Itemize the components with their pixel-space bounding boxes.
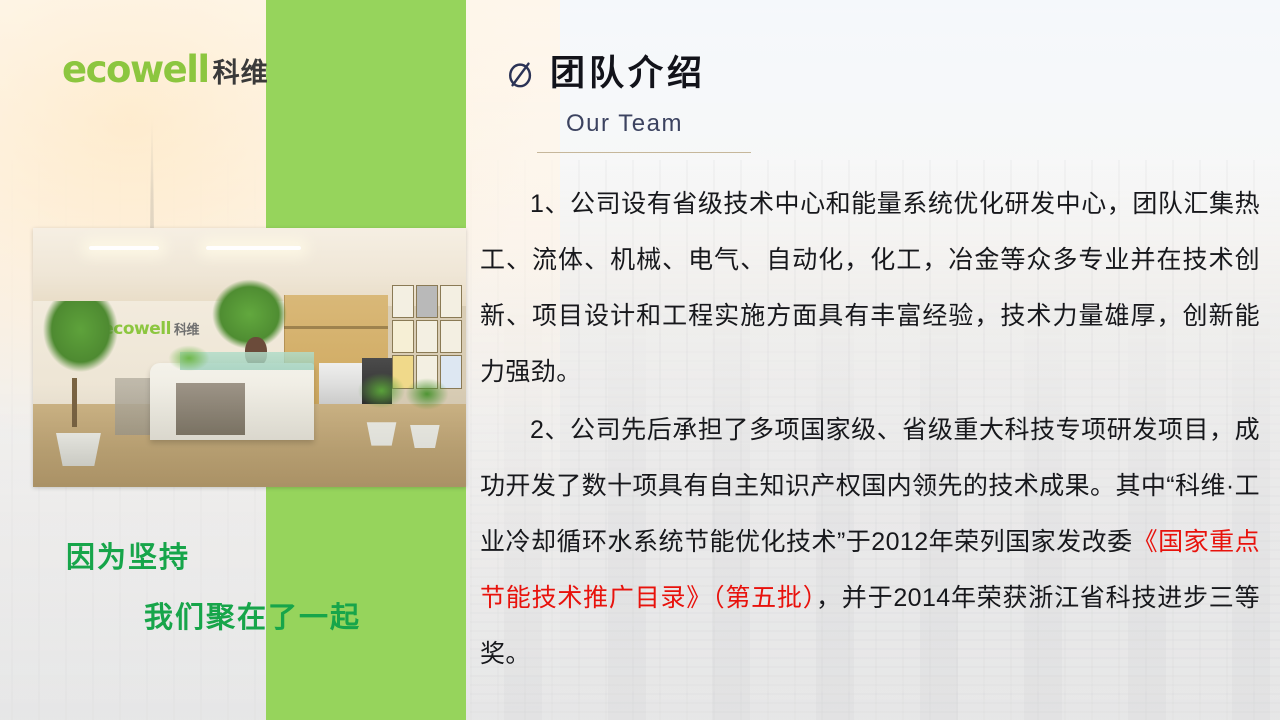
logo-text-cn: 科维 xyxy=(213,51,269,90)
page-title-row: 团队介绍 xyxy=(506,56,706,91)
page-title: 团队介绍 xyxy=(550,56,706,91)
company-logo: ecowell 科维 xyxy=(62,48,269,91)
office-reception-photo: ecowell科维 xyxy=(33,228,466,487)
tagline-block: 因为坚持 我们聚在了一起 xyxy=(0,540,466,637)
paragraph-1: 1、公司设有省级技术中心和能量系统优化研发中心，团队汇集热工、流体、机械、电气、… xyxy=(480,176,1260,400)
body-copy: 1、公司设有省级技术中心和能量系统优化研发中心，团队汇集热工、流体、机械、电气、… xyxy=(480,176,1260,684)
title-divider xyxy=(537,152,751,153)
slashed-circle-icon xyxy=(506,59,536,89)
paragraph-2: 2、公司先后承担了多项国家级、省级重大科技专项研发项目，成功开发了数十项具有自主… xyxy=(480,402,1260,682)
logo-text-en: ecowell xyxy=(62,48,209,91)
photo-vignette xyxy=(33,228,466,487)
tagline-line-2: 我们聚在了一起 xyxy=(144,600,466,636)
slide-canvas: ecowell 科维 ecowell科维 xyxy=(0,0,1280,720)
tagline-line-1: 因为坚持 xyxy=(66,540,466,576)
content-pane: 团队介绍 Our Team 1、公司设有省级技术中心和能量系统优化研发中心，团队… xyxy=(466,0,1280,720)
page-subtitle: Our Team xyxy=(566,110,683,138)
